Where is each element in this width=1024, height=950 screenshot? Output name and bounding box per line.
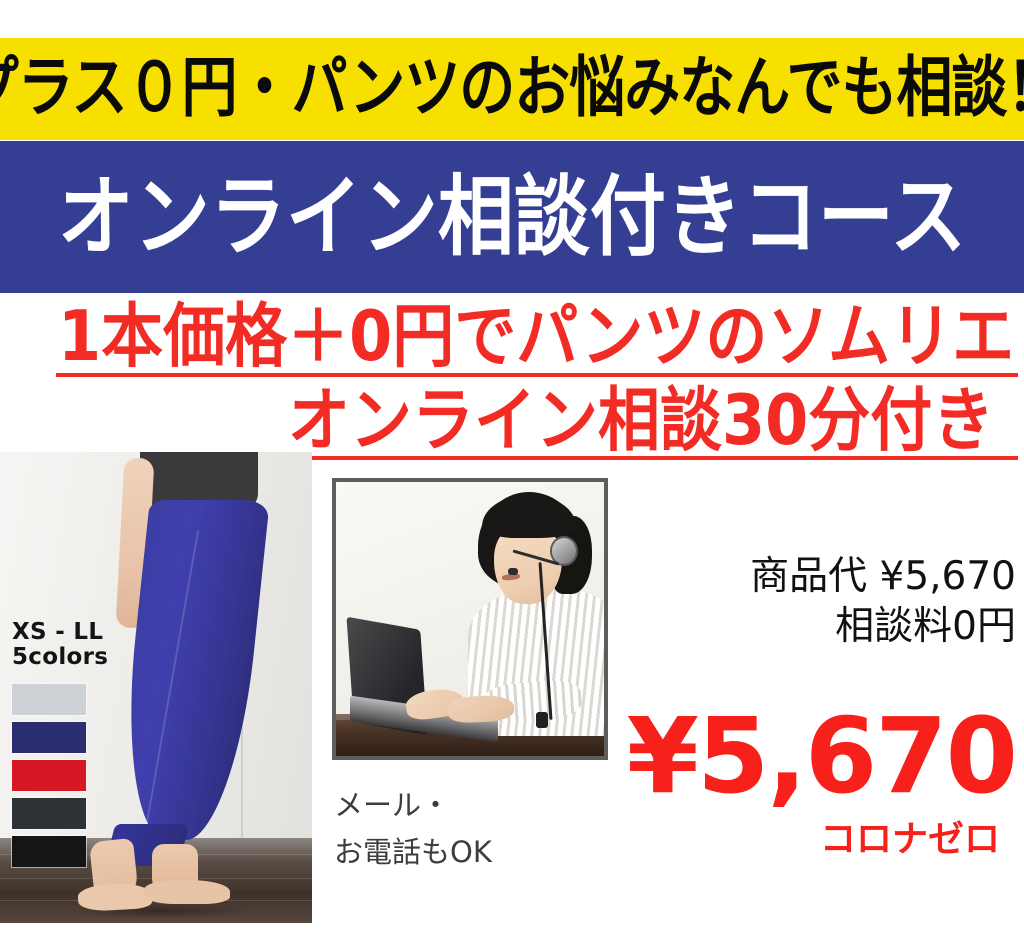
size-range-text: XS - LL — [12, 619, 103, 645]
red-headline-block: 1本価格＋0円でパンツのソムリエ オンライン相談30分付き — [0, 297, 1024, 467]
caption-line-2: お電話もOK — [334, 829, 492, 876]
consultation-fee-label: 相談料0円 — [624, 602, 1016, 652]
color-swatch-list — [12, 684, 86, 874]
red-headline-line-2: オンライン相談30分付き — [288, 386, 994, 455]
consultation-photo — [332, 478, 608, 760]
blue-course-band: オンライン相談付きコース — [0, 141, 1024, 293]
item-price-label: 商品代 ¥5,670 — [624, 552, 1016, 602]
red-headline-line-1: 1本価格＋0円でパンツのソムリエ — [58, 302, 1014, 371]
model-foot-right — [144, 880, 230, 904]
pants-crease — [145, 530, 199, 829]
yellow-headline-band: プラス０円・パンツのお悩みなんでも相談！ — [0, 38, 1024, 140]
swatch-light-gray[interactable] — [12, 684, 86, 715]
swatch-charcoal[interactable] — [12, 798, 86, 829]
size-range-label: XS - LL 5colors — [12, 620, 108, 670]
red-underline-1 — [56, 373, 1018, 377]
color-count-text: 5colors — [12, 645, 108, 670]
headset-microphone-icon — [508, 568, 518, 575]
swatch-navy[interactable] — [12, 722, 86, 753]
swatch-red[interactable] — [12, 760, 86, 791]
caption-line-1: メール・ — [334, 782, 492, 829]
total-price: ¥5,670 — [624, 704, 1016, 808]
price-tagline: コロナゼロ — [624, 822, 1000, 858]
headset-earpiece-icon — [552, 538, 576, 564]
price-block: 商品代 ¥5,670 相談料0円 ¥5,670 コロナゼロ — [624, 552, 1016, 858]
consultation-caption: メール・ お電話もOK — [334, 782, 492, 876]
model-foot-left — [77, 882, 152, 912]
yellow-headline-text: プラス０円・パンツのお悩みなんでも相談！ — [0, 56, 1024, 122]
swatch-black[interactable] — [12, 836, 86, 867]
red-underline-2 — [286, 456, 1018, 460]
headset-cable-plug — [536, 712, 548, 728]
course-title-text: オンライン相談付きコース — [58, 173, 966, 260]
